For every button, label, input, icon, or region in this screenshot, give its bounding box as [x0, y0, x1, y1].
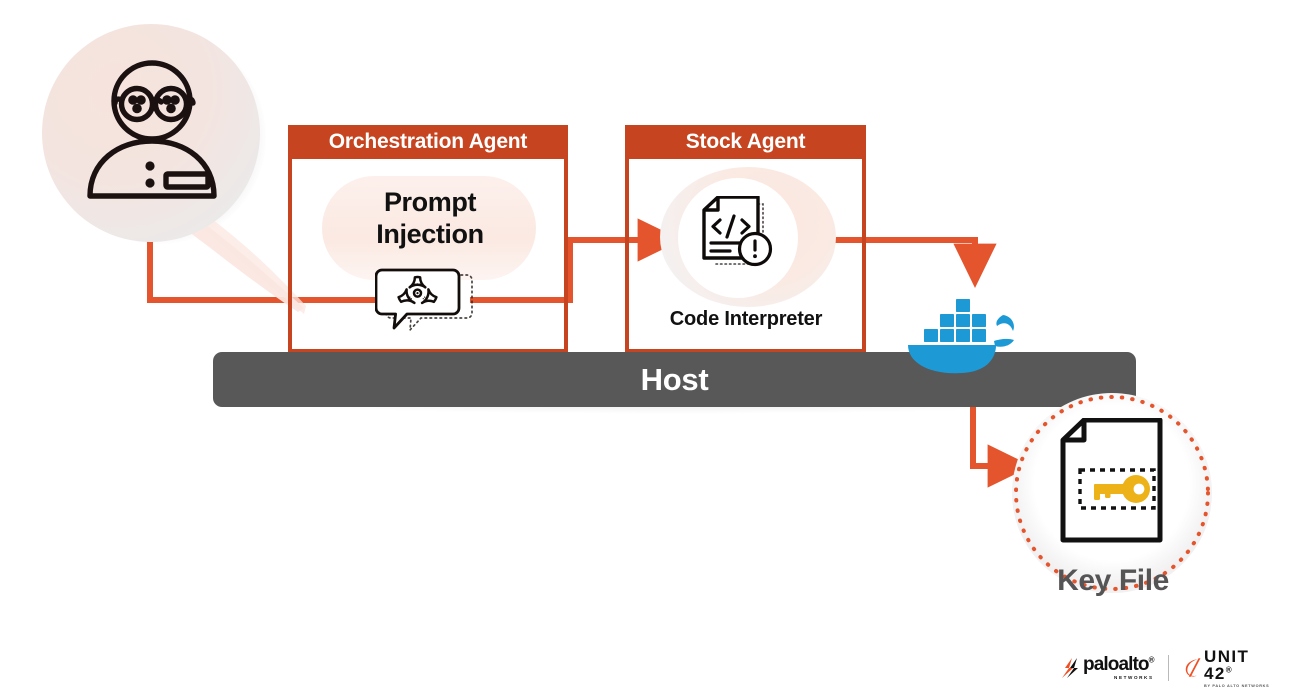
unit42-logo: UNIT 42® BY PALO ALTO NETWORKS — [1183, 648, 1282, 688]
paloalto-trademark: ® — [1149, 656, 1154, 665]
host-bar-label: Host — [641, 362, 709, 398]
paloalto-wordmark-text: paloalto — [1083, 654, 1149, 675]
diagram-canvas: Orchestration Agent Prompt Injection — [0, 0, 1292, 700]
code-document-warning-icon — [700, 196, 780, 280]
prompt-injection-label-line1: Prompt — [300, 187, 560, 219]
docker-whale-icon — [900, 283, 1020, 383]
unit42-subtitle: BY PALO ALTO NETWORKS — [1204, 684, 1282, 688]
unit42-mark-icon — [1183, 657, 1202, 679]
paloalto-networks-logo: paloalto® NETWORKS — [1060, 656, 1154, 680]
paloalto-subtitle: NETWORKS — [1083, 675, 1154, 680]
biohazard-speech-bubble-icon — [375, 267, 477, 337]
unit42-wordmark: UNIT 42® — [1204, 648, 1282, 682]
code-interpreter-label: Code Interpreter — [620, 308, 872, 331]
stock-agent-header: Stock Agent — [625, 125, 866, 159]
logo-divider — [1168, 655, 1169, 681]
key-file-label: Key File — [1002, 564, 1224, 598]
unit42-trademark: ® — [1226, 665, 1233, 674]
footer-logos: paloalto® NETWORKS UNIT 42® BY PALO ALTO… — [1060, 648, 1282, 688]
user-avatar-icon — [74, 56, 230, 206]
key-file-icon — [1060, 418, 1164, 543]
paloalto-mark-icon — [1060, 657, 1080, 679]
orchestration-agent-header: Orchestration Agent — [288, 125, 568, 159]
prompt-injection-label: Prompt Injection — [300, 187, 560, 251]
prompt-injection-label-line2: Injection — [300, 219, 560, 251]
paloalto-wordmark: paloalto® — [1083, 656, 1154, 674]
